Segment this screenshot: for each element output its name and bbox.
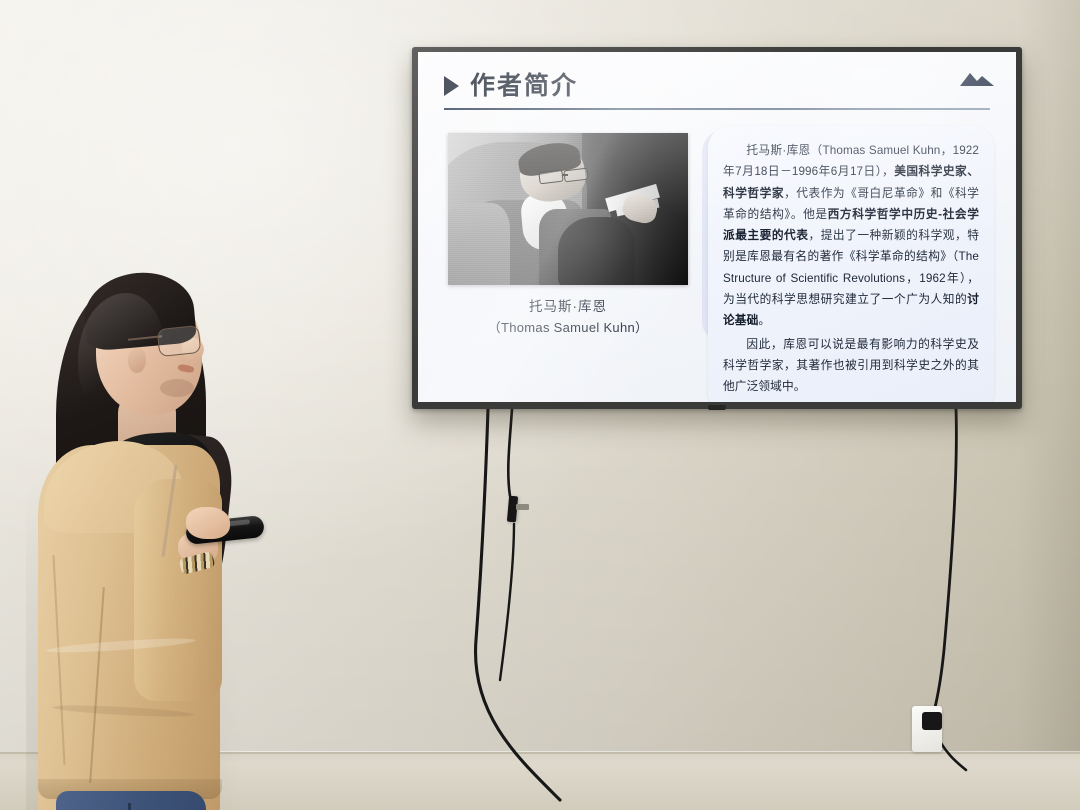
upper-hand <box>186 507 230 539</box>
biography-card: 托马斯·库恩（Thomas Samuel Kuhn，1922年7月18日－199… <box>708 126 994 402</box>
biography-paragraph-1: 托马斯·库恩（Thomas Samuel Kuhn，1922年7月18日－199… <box>723 140 979 332</box>
text-card-wrapper: 托马斯·库恩（Thomas Samuel Kuhn，1922年7月18日－199… <box>708 122 994 384</box>
glasses-lens <box>157 325 202 357</box>
blue-jeans <box>56 791 206 810</box>
slide-body: 托马斯·库恩 （Thomas Samuel Kuhn） 托马斯·库恩（Thoma… <box>444 122 994 384</box>
kuhn-portrait-photo <box>448 133 688 285</box>
presentation-slide: 作者简介 <box>418 52 1016 402</box>
hdmi-dongle-tip <box>516 504 529 510</box>
female-presenter <box>0 255 300 810</box>
jeans-seam <box>128 803 131 810</box>
tv-ir-sensor <box>708 405 726 410</box>
triangle-right-icon <box>444 76 459 96</box>
photo-caption: 托马斯·库恩 （Thomas Samuel Kuhn） <box>488 297 649 338</box>
photo-caption-english: （Thomas Samuel Kuhn） <box>488 318 649 338</box>
mountain-icon <box>960 70 994 86</box>
power-plug <box>922 712 942 730</box>
biography-paragraph-2: 因此，库恩可以说是最有影响力的科学史及科学哲学家，其著作也被引用到科学史之外的其… <box>723 334 979 398</box>
slide-title: 作者简介 <box>470 74 578 99</box>
wall-corner-shadow <box>1018 0 1080 810</box>
wall-mounted-tv: 作者简介 <box>412 47 1022 409</box>
photo-column: 托马斯·库恩 （Thomas Samuel Kuhn） <box>444 122 692 384</box>
chin-shadow <box>160 379 194 397</box>
slide-header: 作者简介 <box>444 66 990 106</box>
title-divider <box>444 108 990 110</box>
photo-caption-chinese: 托马斯·库恩 <box>488 297 649 318</box>
classroom-scene: 作者简介 <box>0 0 1080 810</box>
